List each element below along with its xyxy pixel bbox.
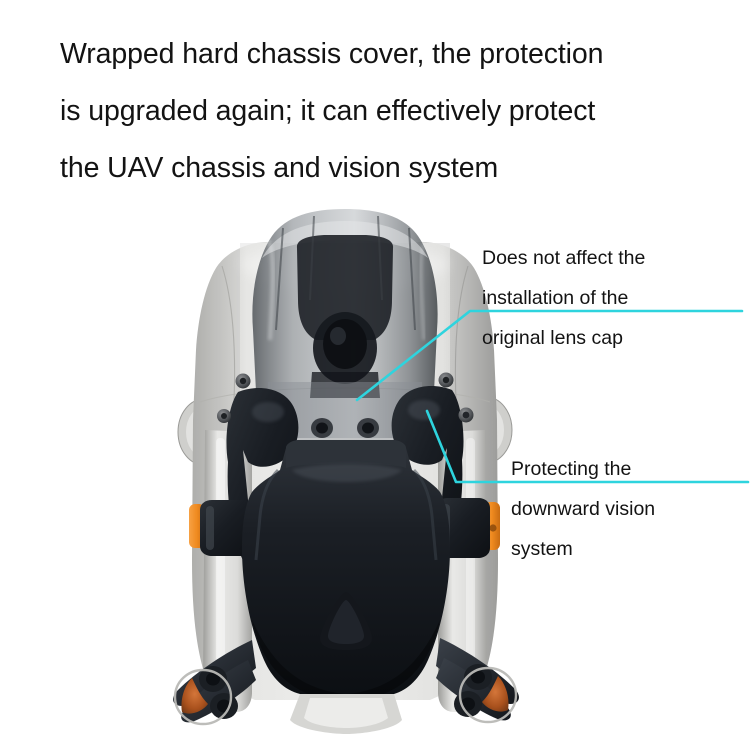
- callout-lens-cap-text: Does not affect the installation of the …: [482, 238, 732, 358]
- hard-chassis-cover-plate: [242, 440, 450, 702]
- page-title: Wrapped hard chassis cover, the protecti…: [60, 26, 728, 197]
- tail-section: [290, 694, 402, 734]
- callout-downward-vision-text: Protecting the downward vision system: [511, 449, 741, 569]
- product-feature-image: Wrapped hard chassis cover, the protecti…: [0, 0, 750, 750]
